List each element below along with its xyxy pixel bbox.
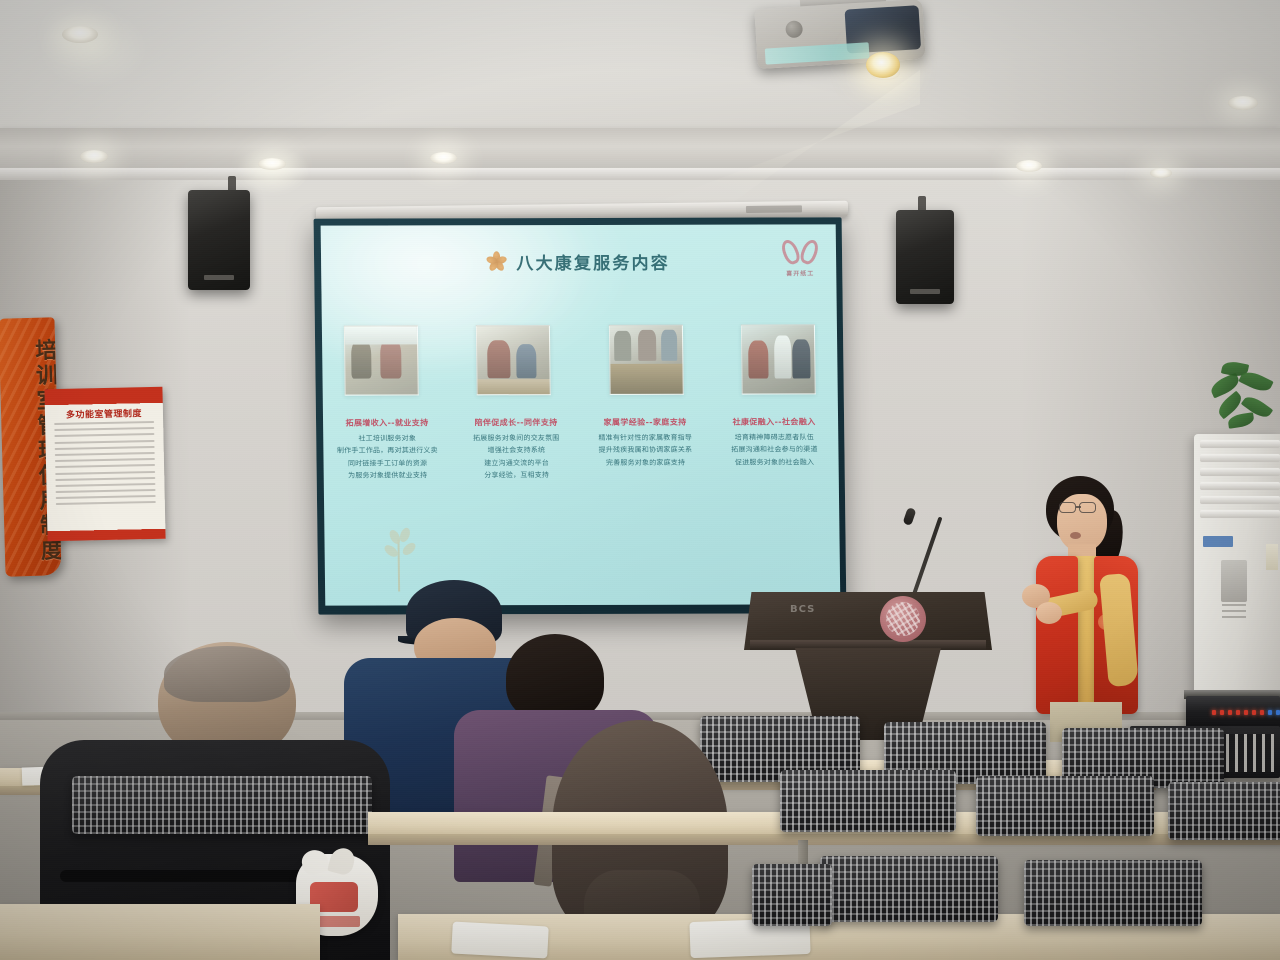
wall-poster-title: 多功能室管理制度: [45, 406, 163, 421]
slide-column-4-heading: 社康促融入--社会融入: [718, 416, 830, 427]
chair-front-2[interactable]: [820, 856, 998, 922]
slide-logo-text: 喜开纸工: [786, 268, 814, 277]
speaker-badge-right: [910, 289, 940, 294]
projector: [754, 0, 925, 69]
chair-mid-2[interactable]: [976, 776, 1154, 836]
ac-brand-logo-icon: [1203, 536, 1233, 547]
downlight-icon-7: [1228, 96, 1258, 110]
slide-org-logo: 喜开纸工: [779, 237, 822, 283]
slide-column-4-line-3: 促进服务对象的社会融入: [719, 456, 831, 469]
slide-column-2-line-1: 拓展服务对象间的交友氛围: [460, 432, 572, 445]
slide-column-3-line-2: 提升残疾我属和协调家庭关系: [589, 444, 701, 457]
podium-seal-emblem-icon: [880, 596, 926, 642]
presenter: [1000, 476, 1156, 740]
attendee-3-hair: [506, 634, 604, 722]
downlight-icon-1: [62, 26, 98, 43]
slide-title-row: 八大康复服务内容: [321, 248, 836, 274]
chair-front-3[interactable]: [1024, 860, 1202, 926]
slide-column-3-heading: 家属学经验--家庭支持: [589, 417, 701, 428]
hands-heart-logo-icon: [783, 237, 817, 267]
slide-title: 八大康复服务内容: [516, 249, 670, 274]
desk-row3-left: [0, 904, 320, 960]
downlight-glow-1: [38, 8, 148, 88]
classroom-photo-scene: 培训室管理使用制度 多功能室管理制度 八大康复服务内容: [0, 0, 1280, 960]
chair-mid-1[interactable]: [780, 770, 956, 832]
projector-accent-stripe: [765, 42, 870, 64]
slide-column-1-line-2: 制作手工作品，再对其进行义卖: [331, 445, 443, 458]
presenter-hand-right: [1036, 602, 1062, 624]
slide-column-2-heading: 陪伴促成长--同伴支持: [460, 417, 572, 428]
projector-lens-icon: [866, 52, 900, 78]
slide-photo-3: [609, 325, 684, 395]
slide-column-3: 家属学经验--家庭支持 精准有针对性的家属教育指导 提升残疾我属和协调家庭关系 …: [589, 417, 702, 481]
air-conditioner-unit: [1194, 434, 1280, 722]
slide-column-1-line-3: 同时链接手工订单的资源: [331, 457, 443, 470]
presenter-mouth: [1070, 532, 1081, 539]
podium-brand-label: BCS: [790, 604, 834, 616]
slide-column-3-line-3: 完善服务对象的家庭支持: [589, 456, 701, 469]
downlight-icon-6: [1016, 160, 1042, 172]
audio-rack-led-row: [1212, 710, 1280, 715]
slide-column-4: 社康促融入--社会融入 培育精神障碍志愿者队伍 拓展沟通和社会参与的渠道 促进服…: [718, 416, 831, 480]
downlight-icon-4: [430, 152, 457, 164]
downlight-icon-8: [1150, 168, 1172, 178]
downlight-icon-2: [80, 150, 108, 163]
projection-screen-frame: 八大康复服务内容 喜开纸工: [314, 217, 847, 614]
downlight-icon-3: [258, 158, 286, 170]
flower-ornament-icon: [487, 252, 506, 271]
projection-screen-surface: 八大康复服务内容 喜开纸工: [321, 224, 841, 605]
slide-caption-row: 拓展增收入--就业支持 社工培训服务对象 制作手工作品，再对其进行义卖 同时链接…: [331, 416, 831, 481]
downlight-glow-3: [236, 146, 310, 194]
screen-brand-logo-icon: [746, 205, 802, 213]
wall-speaker-right: [896, 210, 954, 304]
slide-column-2: 陪伴促成长--同伴支持 拓展服务对象间的交友氛围 增强社会支持系统 建立沟通交流…: [460, 417, 573, 481]
ac-energy-label: [1266, 544, 1278, 570]
chair-front-4[interactable]: [752, 864, 832, 926]
ac-vent-louvers: [1200, 440, 1280, 526]
slide-column-1-heading: 拓展增收入--就业支持: [331, 417, 443, 428]
ac-display-panel[interactable]: [1221, 560, 1247, 602]
slide-column-2-line-3: 建立沟通交流的平台: [460, 457, 572, 470]
ac-panel-labels: [1222, 604, 1246, 618]
slide-thumbnail-row: [344, 324, 816, 395]
slide-column-1-line-4: 为服务对象提供就业支持: [332, 469, 444, 482]
slide-photo-4: [741, 324, 816, 394]
slide-column-1-line-1: 社工培训服务对象: [331, 432, 443, 445]
slide-photo-2: [476, 325, 551, 395]
slide-column-4-line-1: 培育精神障碍志愿者队伍: [718, 431, 830, 444]
chair-mid-3[interactable]: [1168, 782, 1280, 840]
slide-photo-1: [344, 325, 419, 395]
slide-column-1: 拓展增收入--就业支持 社工培训服务对象 制作手工作品，再对其进行义卖 同时链接…: [331, 417, 444, 481]
speaker-badge-left: [204, 275, 234, 280]
slide-column-2-line-4: 分享经验，互相支持: [461, 469, 573, 482]
presenter-vest-left: [1036, 556, 1078, 714]
projector-knob-icon: [785, 20, 803, 38]
glasses-bridge-icon: [1076, 506, 1081, 508]
wall-poster-body: [54, 421, 156, 527]
wall-poster-rules: 多功能室管理制度: [44, 387, 165, 541]
slide-column-4-line-2: 拓展沟通和社会参与的渠道: [718, 444, 830, 457]
paper-sheet-4: [451, 922, 549, 959]
wall-speaker-left: [188, 190, 250, 290]
slide-column-2-line-2: 增强社会支持系统: [460, 444, 572, 457]
glasses-icon-left: [1059, 502, 1076, 513]
glasses-icon-right: [1079, 502, 1096, 513]
chair-front-1[interactable]: [72, 776, 372, 834]
attendee-1-hair: [164, 646, 290, 702]
slide-column-3-line-1: 精准有针对性的家属教育指导: [589, 432, 701, 445]
